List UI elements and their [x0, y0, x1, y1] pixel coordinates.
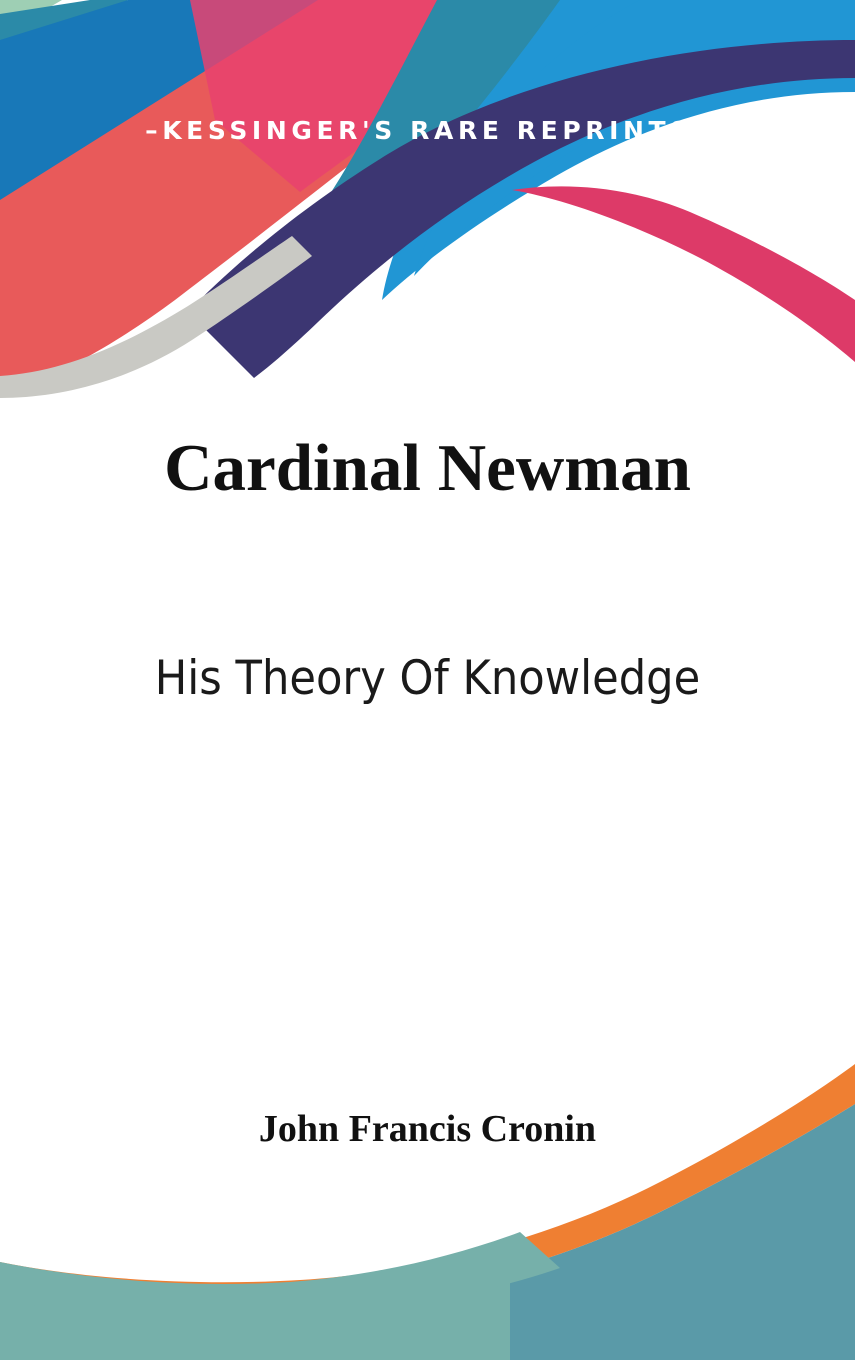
book-cover: –KESSINGER'S RARE REPRINTS– Cardinal New… — [0, 0, 855, 1360]
cover-text-block: Cardinal Newman His Theory Of Knowledge … — [0, 0, 855, 1360]
book-author: John Francis Cronin — [0, 1108, 855, 1152]
book-title: Cardinal Newman — [0, 432, 855, 506]
book-subtitle: His Theory Of Knowledge — [34, 652, 821, 706]
